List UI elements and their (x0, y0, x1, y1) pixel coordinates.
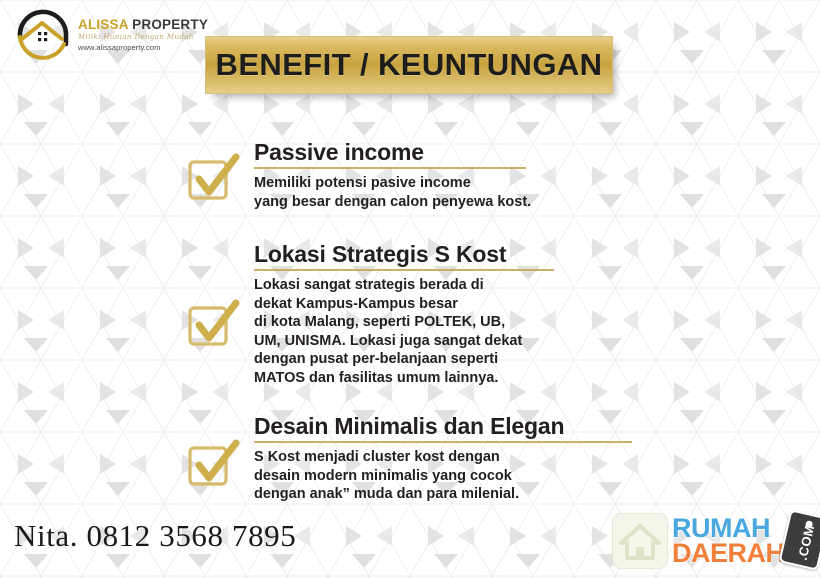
benefit-icon-wrap (186, 240, 248, 355)
checkbox-check-icon (186, 438, 242, 490)
benefit-item-lokasi-strategis: Lokasi Strategis S Kost Lokasi sangat st… (186, 240, 554, 387)
benefit-body: Lokasi Strategis S Kost Lokasi sangat st… (248, 240, 554, 387)
partner-word-daerah: DAERAH (672, 539, 785, 567)
brand-name-second: PROPERTY (132, 17, 208, 32)
brand-logo: ALISSA PROPERTY Miliki Hunian Dengan Mud… (14, 6, 208, 62)
benefit-title: Passive income (254, 138, 531, 166)
benefit-item-desain-minimalis: Desain Minimalis dan Elegan S Kost menja… (186, 412, 632, 504)
contact-phone: Nita. 0812 3568 7895 (14, 518, 296, 554)
benefit-icon-wrap (186, 412, 248, 495)
partner-house-badge (612, 513, 668, 569)
benefit-description: Memiliki potensi pasive income yang besa… (254, 174, 531, 211)
partner-tag-label: .COM (775, 517, 820, 568)
benefit-description: Lokasi sangat strategis berada di dekat … (254, 276, 554, 387)
benefit-underline (254, 441, 632, 443)
title-banner: BENEFIT / KEUNTUNGAN (205, 36, 613, 94)
house-circle-logo-icon (14, 6, 72, 62)
checkbox-check-icon (186, 298, 242, 350)
house-icon (613, 514, 667, 568)
brand-website: www.alissaproperty.com (78, 43, 208, 53)
partner-wordmark: RUMAH DAERAH .COM (672, 511, 812, 573)
benefit-body: Desain Minimalis dan Elegan S Kost menja… (248, 412, 632, 504)
benefit-item-passive-income: Passive income Memiliki potensi pasive i… (186, 138, 531, 211)
benefit-title: Lokasi Strategis S Kost (254, 240, 554, 268)
partner-logo: RUMAH DAERAH .COM (612, 511, 812, 573)
brand-name: ALISSA PROPERTY (78, 18, 208, 32)
page-title: BENEFIT / KEUNTUNGAN (216, 47, 603, 83)
benefit-underline (254, 167, 526, 169)
benefit-underline (254, 269, 554, 271)
checkbox-check-icon (186, 152, 242, 204)
benefit-body: Passive income Memiliki potensi pasive i… (248, 138, 531, 211)
benefit-icon-wrap (186, 138, 248, 209)
partner-com-tag: .COM (778, 509, 820, 571)
brand-name-first: ALISSA (78, 17, 128, 32)
brand-tagline: Miliki Hunian Dengan Mudah (78, 33, 208, 42)
benefit-title: Desain Minimalis dan Elegan (254, 412, 632, 440)
benefit-description: S Kost menjadi cluster kost dengan desai… (254, 448, 632, 504)
brand-text-block: ALISSA PROPERTY Miliki Hunian Dengan Mud… (78, 15, 208, 53)
